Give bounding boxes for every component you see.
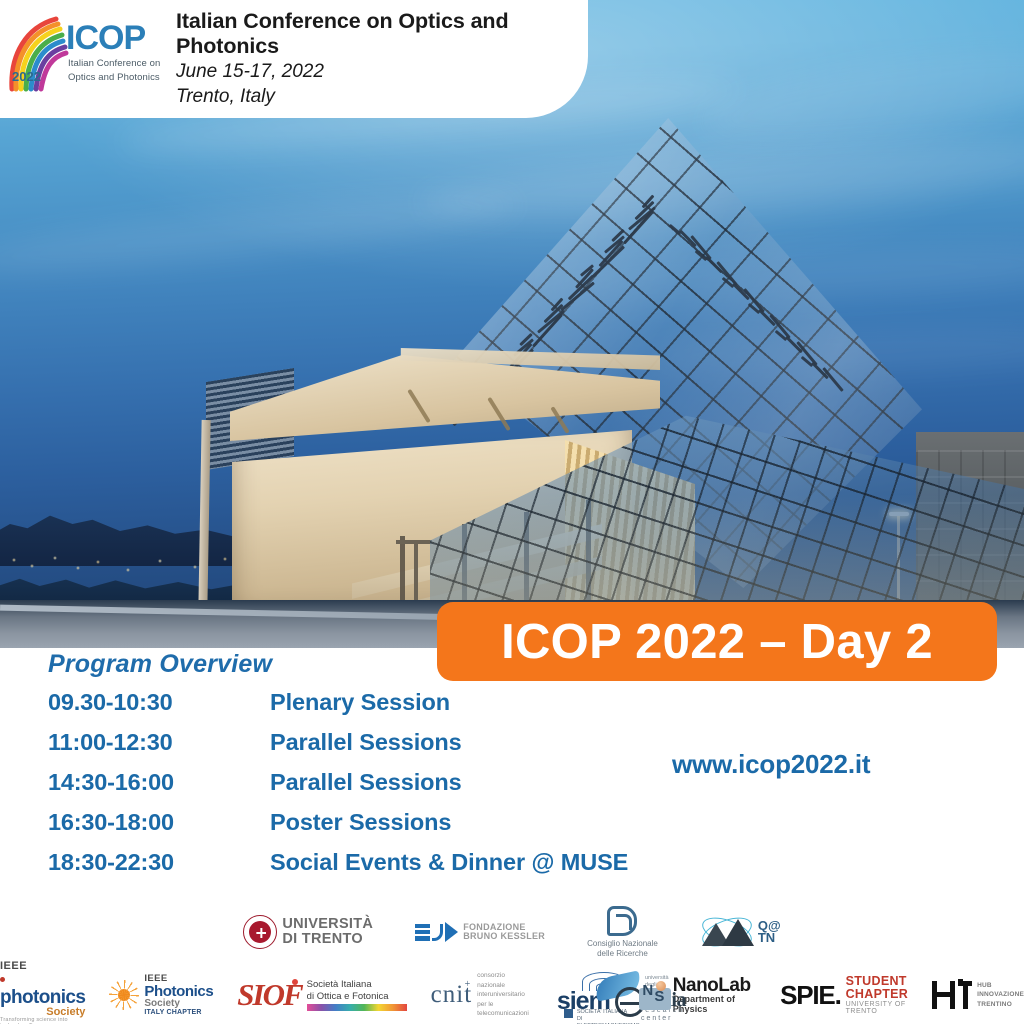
program-row-activity: Poster Sessions (270, 809, 451, 836)
cnr-wordmark: Consiglio Nazionale delle Ricerche (587, 939, 658, 959)
header-panel: ICOP Italian Conference on Optics and Ph… (0, 0, 588, 118)
logo-eledia[interactable]: università degli studi di trento eledia … (595, 973, 615, 1017)
louvre-post (198, 420, 210, 610)
icop-wordmark: ICOP (66, 19, 145, 58)
program-row-activity: Parallel Sessions (270, 729, 462, 756)
hit-mark-icon (932, 981, 972, 1009)
header-text-block: Italian Conference on Optics and Photoni… (176, 9, 588, 110)
program-row-time: 09.30-10:30 (48, 689, 270, 716)
logo-siof[interactable]: SIOF Società Italiana di Ottica e Fotoni… (237, 977, 406, 1013)
unitn-seal-icon (243, 915, 277, 949)
hit-wordmark: HUB INNOVAZIONE TRENTINO (977, 981, 1024, 1008)
day-banner: ICOP 2022 – Day 2 (437, 602, 997, 681)
sunburst-icon (109, 980, 139, 1010)
logo-hub-innovazione-trentino[interactable]: HUB INNOVAZIONE TRENTINO (932, 981, 1024, 1009)
conference-dates: June 15-17, 2022 (176, 59, 588, 84)
logo-q-at-tn[interactable]: Q@ TN (700, 915, 781, 949)
program-row: 16:30-18:00Poster Sessions (48, 809, 628, 849)
program-overview: Program Overview 09.30-10:30Plenary Sess… (48, 650, 628, 889)
cnit-mark-icon: cnit + (431, 981, 473, 1009)
logo-spie-student-chapter[interactable]: SPIE. STUDENT CHAPTER UNIVERSITY OF TREN… (780, 975, 908, 1016)
fbk-wordmark: FONDAZIONE BRUNO KESSLER (463, 923, 545, 941)
logo-fondazione-bruno-kessler[interactable]: FONDAZIONE BRUNO KESSLER (415, 922, 545, 942)
poster-root: ICOP Italian Conference on Optics and Ph… (0, 0, 1024, 1024)
conference-title: Italian Conference on Optics and Photoni… (176, 9, 588, 60)
cnr-mark-icon (607, 906, 637, 936)
siem-square-icon (564, 1009, 573, 1018)
spie-chapter-text: STUDENT CHAPTER UNIVERSITY OF TRENTO (846, 975, 909, 1016)
website-url[interactable]: www.icop2022.it (672, 749, 870, 780)
program-row-activity: Parallel Sessions (270, 769, 462, 796)
cnit-wordmark: consorzio nazionale interuniversitario p… (477, 971, 529, 1018)
day-banner-label: ICOP 2022 – Day 2 (501, 614, 933, 670)
program-row: 11:00-12:30Parallel Sessions (48, 729, 628, 769)
qtn-mountains-icon (700, 915, 756, 949)
program-row-time: 14:30-16:00 (48, 769, 270, 796)
ieee-italy-wordmark: IEEE Photonics Society ITALY CHAPTER (144, 974, 213, 1016)
city-lights (0, 552, 250, 578)
siof-wordmark: Società Italiana di Ottica e Fotonica (307, 979, 407, 1012)
program-row-time: 18:30-22:30 (48, 849, 270, 876)
program-row: 14:30-16:00Parallel Sessions (48, 769, 628, 809)
ieee-dot-icon (0, 977, 5, 982)
nanolab-mark-icon: N S (639, 980, 667, 1010)
logo-cnit[interactable]: cnit + consorzio nazionale interuniversi… (431, 971, 529, 1018)
siof-mark-icon: SIOF (237, 977, 301, 1013)
logo-ieee-photonics-society[interactable]: IEEE photonics Society Transforming scie… (0, 961, 85, 1024)
conference-location: Trento, Italy (176, 84, 588, 109)
cloud (697, 33, 1024, 158)
spie-wordmark: SPIE. (780, 980, 840, 1011)
program-row-activity: Plenary Session (270, 689, 450, 716)
sponsor-row-primary: UNIVERSITÀ DI TRENTO FONDAZIONE BRUNO KE… (0, 902, 1024, 962)
program-row-activity: Social Events & Dinner @ MUSE (270, 849, 628, 876)
siof-rainbow-bar (307, 1004, 407, 1011)
cloud (0, 181, 521, 285)
icop-logo: ICOP Italian Conference on Optics and Ph… (8, 11, 168, 107)
program-row: 09.30-10:30Plenary Session (48, 689, 628, 729)
unitn-wordmark: UNIVERSITÀ DI TRENTO (282, 917, 373, 947)
icop-logo-tagline: Italian Conference on Optics and Photoni… (68, 57, 160, 85)
program-row-time: 16:30-18:00 (48, 809, 270, 836)
program-row-time: 11:00-12:30 (48, 729, 270, 756)
program-rows: 09.30-10:30Plenary Session11:00-12:30Par… (48, 689, 628, 889)
logo-cnr[interactable]: Consiglio Nazionale delle Ricerche (587, 906, 658, 959)
logo-ieee-photonics-italy-chapter[interactable]: IEEE Photonics Society ITALY CHAPTER (109, 974, 213, 1016)
icop-logo-year: 2022 (12, 69, 41, 84)
qtn-wordmark: Q@ TN (758, 920, 781, 944)
fbk-mark-icon (415, 922, 458, 942)
sponsor-row-secondary: IEEE photonics Society Transforming scie… (0, 966, 1024, 1024)
logo-siem[interactable]: siem SOCIETA' ITALIANA DI ELETTROMAGNETI… (553, 973, 571, 1017)
logo-universita-di-trento[interactable]: UNIVERSITÀ DI TRENTO (243, 915, 373, 949)
logo-nanolab[interactable]: N S NanoLab Department of Physics (639, 976, 756, 1013)
program-row: 18:30-22:30Social Events & Dinner @ MUSE (48, 849, 628, 889)
